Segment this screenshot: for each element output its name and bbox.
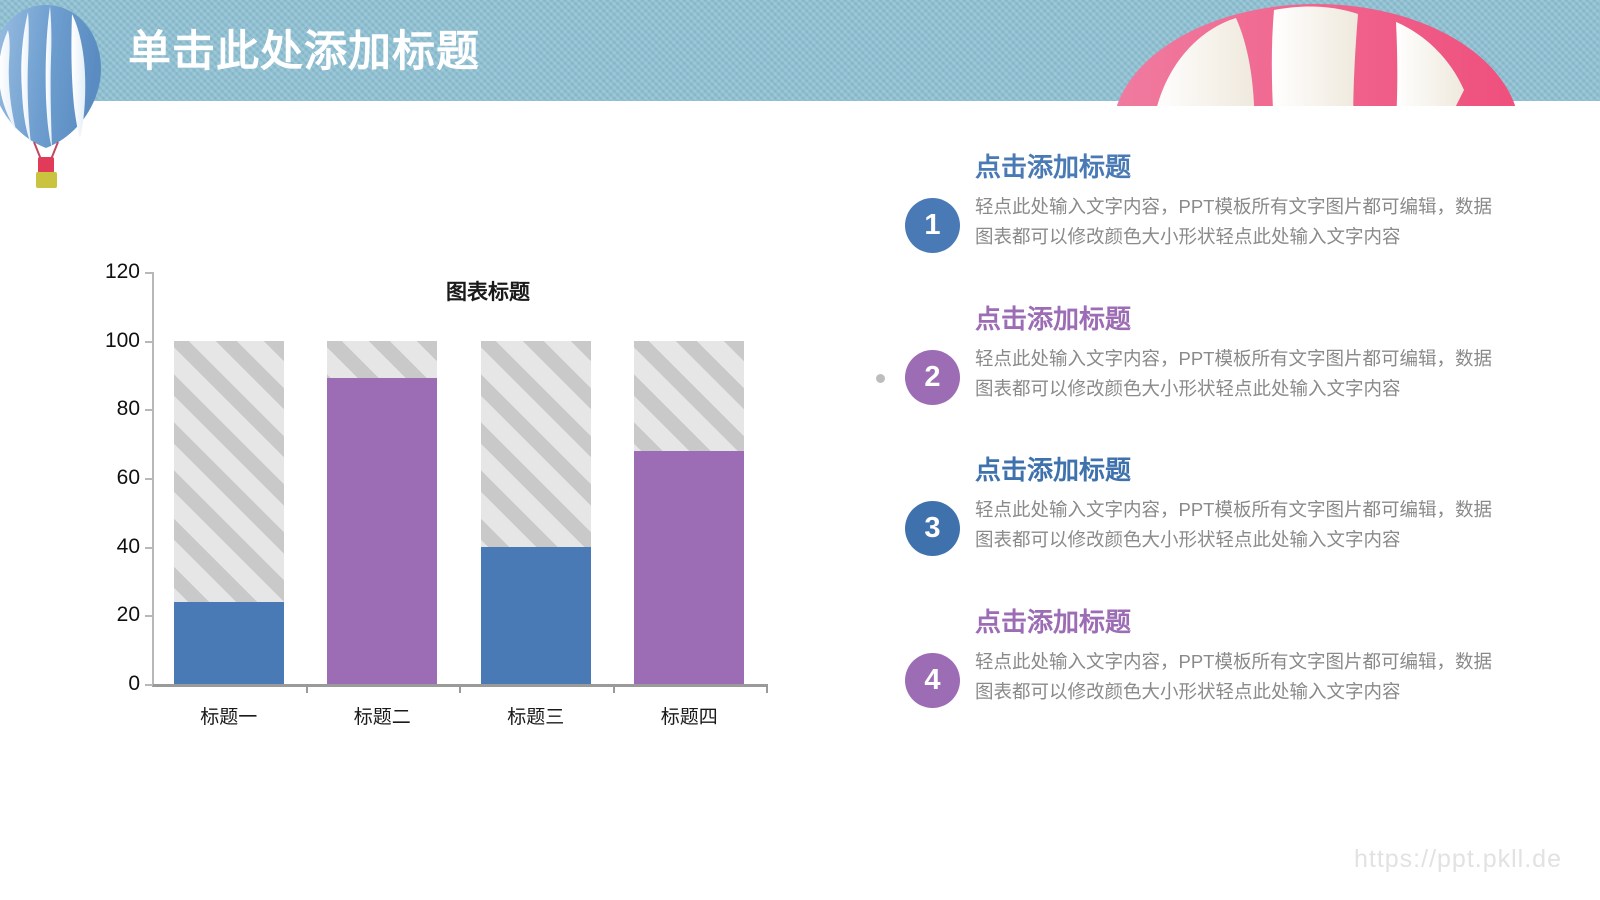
slide-canvas: 单击此处添加标题 图表标题 — [0, 0, 1600, 900]
y-axis-tick-label: 120 — [94, 260, 140, 284]
content-item-heading: 点击添加标题 — [975, 607, 1131, 638]
y-axis-tick — [145, 547, 153, 549]
y-axis-tick-label: 40 — [94, 535, 140, 559]
x-axis-tick-label: 标题一 — [152, 702, 306, 729]
x-axis-tick-label: 标题三 — [459, 702, 613, 729]
page-title: 单击此处添加标题 — [128, 31, 480, 74]
bar-chart: 图表标题 020406080100120 标题一标题二标题三标题四 — [88, 258, 788, 738]
x-axis-tick — [459, 684, 461, 693]
content-item-number-badge[interactable]: 1 — [905, 198, 960, 253]
y-axis-tick-label: 20 — [94, 603, 140, 627]
chart-plot-area: 标题一标题二标题三标题四 — [152, 272, 766, 684]
content-item-heading: 点击添加标题 — [975, 304, 1131, 335]
content-item-heading: 点击添加标题 — [975, 152, 1131, 183]
y-axis-tick — [145, 615, 153, 617]
x-axis-tick — [766, 684, 768, 693]
y-axis-tick-label: 60 — [94, 466, 140, 490]
bar-group — [634, 272, 744, 684]
bar-value — [481, 547, 591, 684]
x-axis-tick-label: 标题四 — [613, 702, 767, 729]
watermark-url: https://ppt.pkll.de — [1354, 845, 1562, 874]
content-item-body: 轻点此处输入文字内容，PPT模板所有文字图片都可编辑，数据图表都可以修改颜色大小… — [975, 192, 1495, 252]
y-axis-tick-labels: 020406080100120 — [88, 258, 140, 683]
bar-group — [481, 272, 591, 684]
content-item-number-badge[interactable]: 4 — [905, 653, 960, 708]
content-item-number-badge[interactable]: 2 — [905, 350, 960, 405]
x-axis-tick — [306, 684, 308, 693]
y-axis-tick — [145, 684, 153, 686]
y-axis-tick — [145, 272, 153, 274]
bar-value — [634, 451, 744, 684]
x-axis-tick-label: 标题二 — [306, 702, 460, 729]
content-item-body: 轻点此处输入文字内容，PPT模板所有文字图片都可编辑，数据图表都可以修改颜色大小… — [975, 344, 1495, 404]
hot-air-balloon-pink-icon — [1106, 2, 1526, 114]
bullet-dot-icon — [876, 374, 885, 383]
y-axis-tick — [145, 478, 153, 480]
bar-group — [327, 272, 437, 684]
y-axis-tick — [145, 409, 153, 411]
bar-value — [174, 602, 284, 684]
bar-value — [327, 378, 437, 684]
y-axis-tick-label: 80 — [94, 397, 140, 421]
hot-air-balloon-blue-icon — [0, 2, 104, 197]
y-axis-tick-label: 100 — [94, 329, 140, 353]
content-item-number-badge[interactable]: 3 — [905, 501, 960, 556]
content-item-body: 轻点此处输入文字内容，PPT模板所有文字图片都可编辑，数据图表都可以修改颜色大小… — [975, 647, 1495, 707]
x-axis-tick — [613, 684, 615, 693]
y-axis-tick — [145, 341, 153, 343]
content-item-heading: 点击添加标题 — [975, 455, 1131, 486]
y-axis-tick-label: 0 — [94, 672, 140, 696]
bar-group — [174, 272, 284, 684]
content-item-body: 轻点此处输入文字内容，PPT模板所有文字图片都可编辑，数据图表都可以修改颜色大小… — [975, 495, 1495, 555]
